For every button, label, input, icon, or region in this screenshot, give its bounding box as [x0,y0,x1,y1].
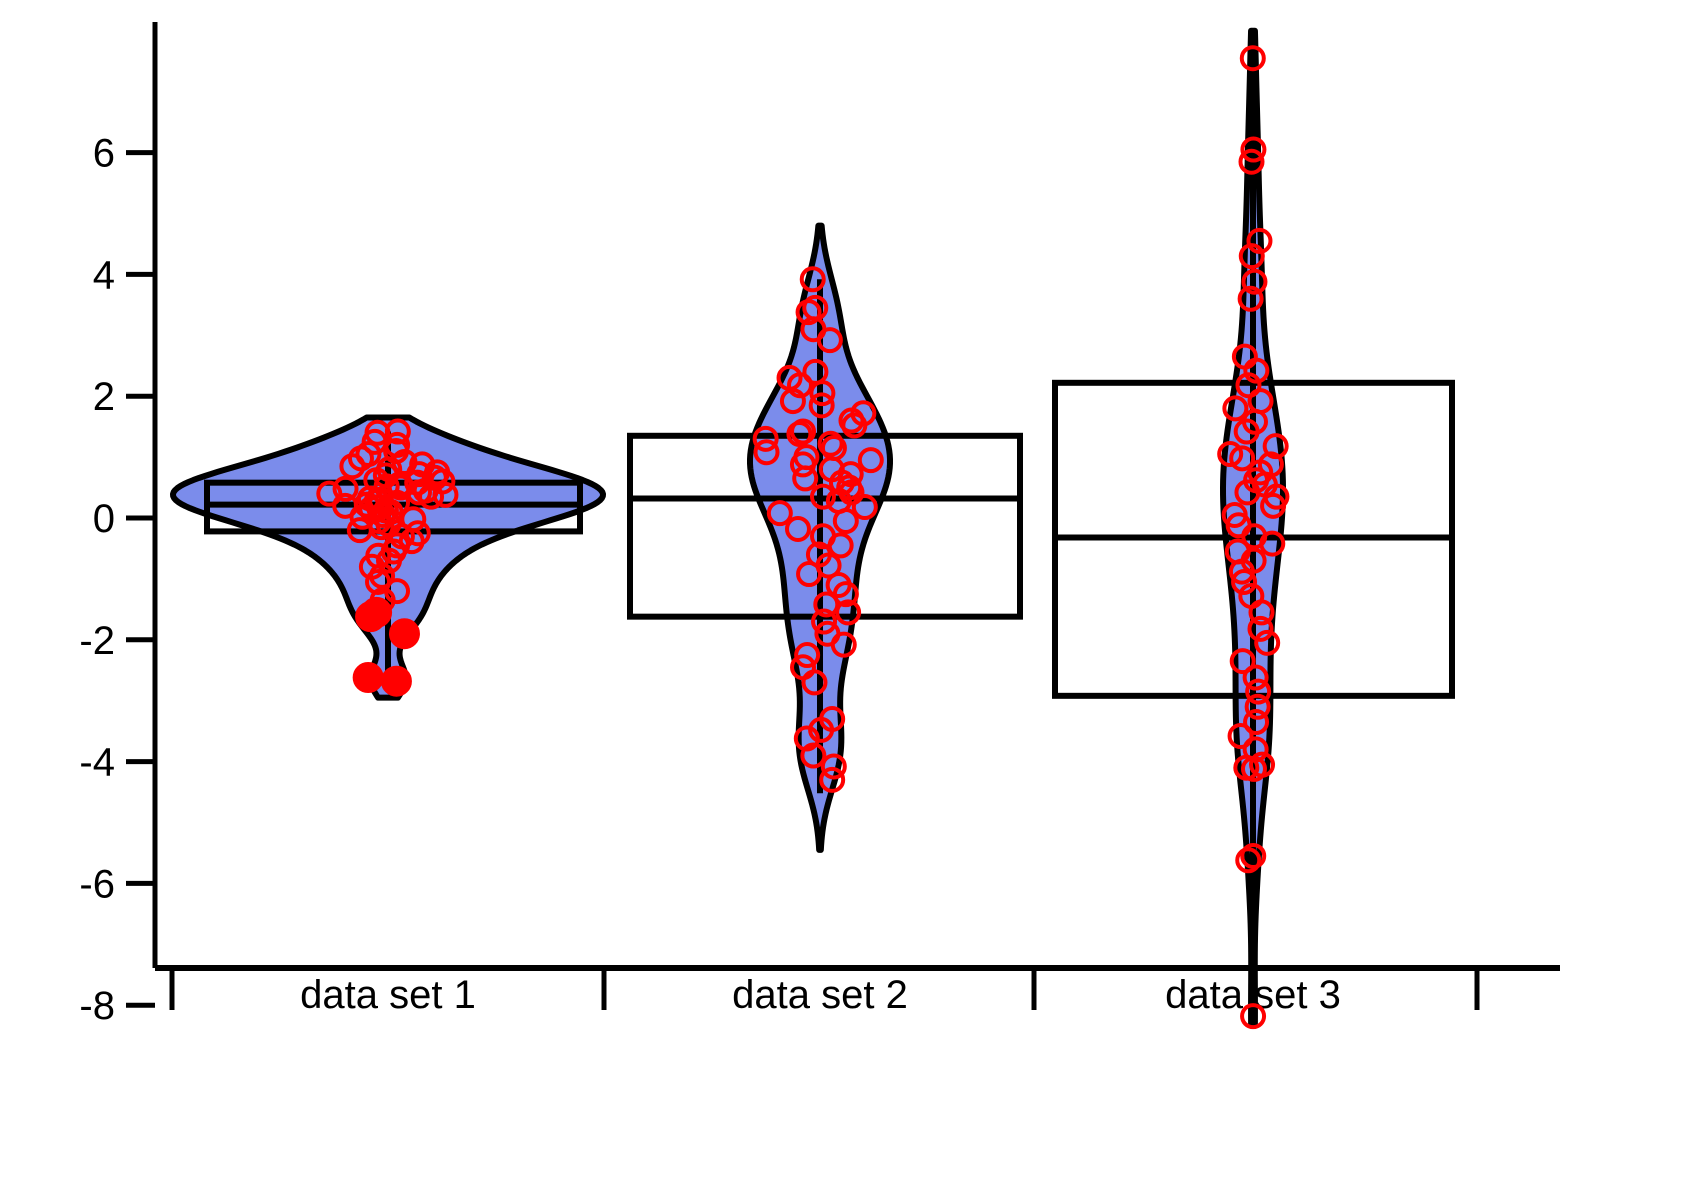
y-axis: 6420-2-4-6-8 [79,22,155,1028]
outlier-marker [390,620,418,648]
violin-plot-figure: 6420-2-4-6-8 data set 1data set 2data se… [0,0,1700,1184]
outlier-marker [357,603,385,631]
y-tick-label-7: -8 [79,984,115,1028]
y-tick-label-1: 4 [93,253,115,297]
y-tick-label-2: 2 [93,375,115,419]
violin-group-3 [1055,31,1452,1027]
violin-group-2 [630,226,1020,850]
outlier-marker [382,667,410,695]
plot-canvas: 6420-2-4-6-8 data set 1data set 2data se… [0,0,1700,1184]
outlier-marker [354,664,382,692]
y-tick-label-0: 6 [93,132,115,176]
y-tick-label-5: -4 [79,741,115,785]
x-axis: data set 1data set 2data set 3 [155,968,1560,1017]
y-tick-label-3: 0 [93,497,115,541]
x-category-label-1: data set 2 [732,973,908,1017]
violin-group-1 [173,418,603,698]
y-tick-label-6: -6 [79,862,115,906]
x-tick-label-group: data set 1data set 2data set 3 [300,973,1341,1017]
y-tick-group: 6420-2-4-6-8 [79,132,155,1029]
x-category-label-0: data set 1 [300,973,476,1017]
y-tick-label-4: -2 [79,619,115,663]
series-layer [173,31,1452,1027]
